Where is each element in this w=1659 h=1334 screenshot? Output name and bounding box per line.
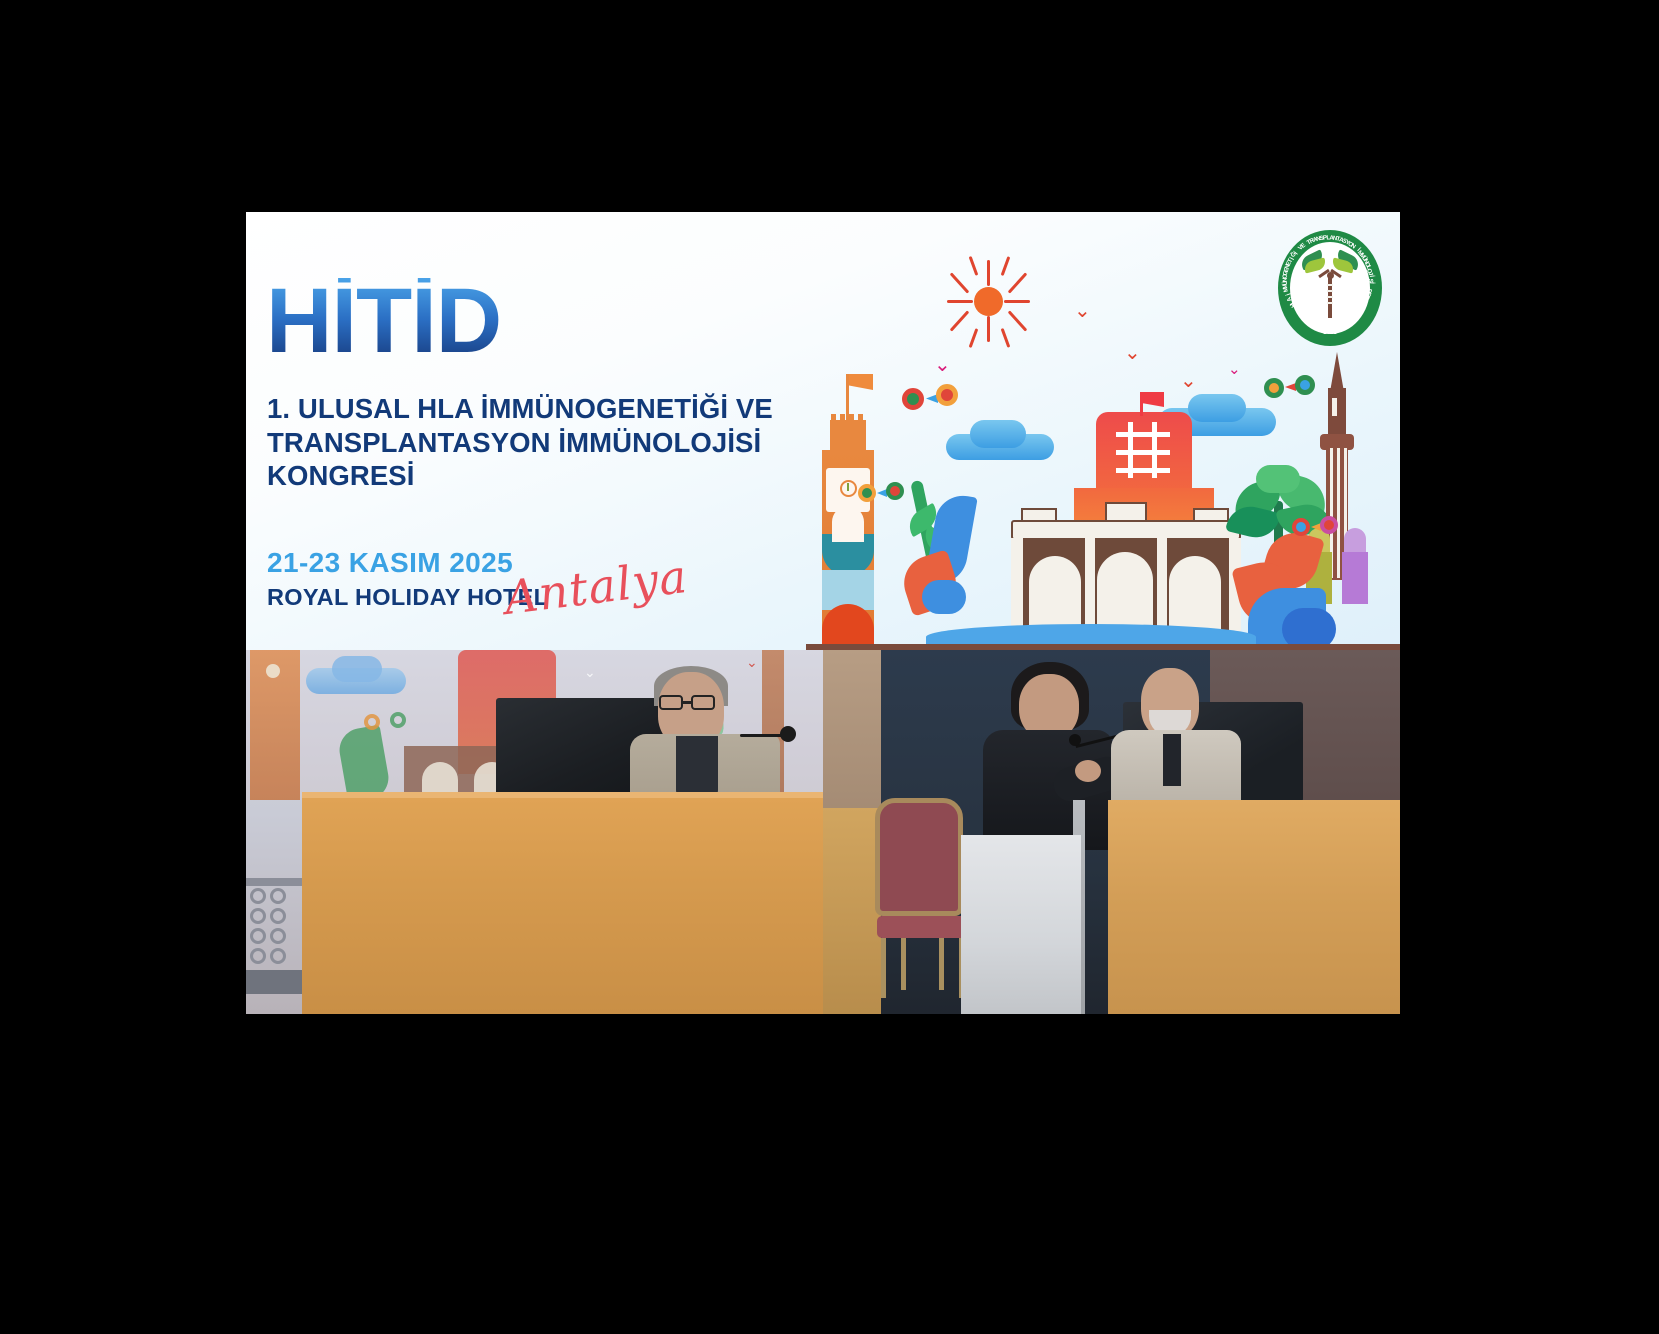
mural-bird-icon: ⌄ xyxy=(584,664,604,674)
mural-flower-icon xyxy=(390,712,406,728)
speaker-shirt xyxy=(676,736,718,798)
mural-bird-icon: ⌄ xyxy=(746,654,758,671)
sun-ray-icon xyxy=(987,260,990,286)
sun-ray-icon xyxy=(950,310,970,331)
sun-ray-icon xyxy=(1008,310,1028,331)
association-ring-glyph: İ xyxy=(1368,282,1375,284)
sun-ray-icon xyxy=(969,328,978,348)
sun-ray-icon xyxy=(1001,256,1010,276)
mural-clock-face-icon xyxy=(266,664,280,678)
bird-icon: ⌄ xyxy=(1180,370,1197,390)
sun-icon xyxy=(974,287,1003,316)
bird-icon: ⌄ xyxy=(934,354,951,374)
antalya-script-text: Antalya xyxy=(501,549,690,625)
leaf-icon xyxy=(1238,532,1334,650)
sun-ray-icon xyxy=(1008,272,1028,293)
secondary-lectern xyxy=(823,808,881,1014)
bird-icon: ⌄ xyxy=(1074,300,1091,320)
photo-right-session: Sevgi K.Beşişik S.Haldun Bal HİTİD 1. UL… xyxy=(823,650,1400,1014)
sun-ray-icon xyxy=(969,256,978,276)
chair-leg xyxy=(939,938,944,990)
sun-ray-icon xyxy=(1001,328,1010,348)
congress-dates: 21-23 KASIM 2025 xyxy=(267,547,513,579)
banquet-chair xyxy=(875,798,967,998)
association-ring-glyph: İ xyxy=(1368,275,1375,278)
congress-title-line-2: TRANSPLANTASYON İMMÜNOLOJİSİ xyxy=(267,426,847,460)
sun-ray-icon xyxy=(947,300,973,303)
panelist-man-tie xyxy=(1163,734,1181,786)
chair-leg xyxy=(901,938,906,990)
sun-ray-icon xyxy=(950,272,970,293)
screenshot-canvas: ⌄ ⌄ ⌄ ⌄ ⌄ ⌄ xyxy=(0,0,1659,1334)
glasses-icon xyxy=(659,695,717,710)
sun-ray-icon xyxy=(987,316,990,342)
cloud-icon xyxy=(970,420,1026,448)
panel-desk: Ali Şengül Barbaros Oral HİTİD 1. ULUSAL… xyxy=(302,798,823,1014)
congress-slide-composite: ⌄ ⌄ ⌄ ⌄ ⌄ ⌄ xyxy=(246,212,1400,1014)
association-logo: HLA İMMÜNOGENETİĞİ VE TRANSPLANTASYON İM… xyxy=(1274,218,1386,350)
auditorium-railing xyxy=(246,878,304,994)
association-founding-year: 2022 xyxy=(1274,330,1386,336)
panelist-woman-hand xyxy=(1075,760,1101,782)
chair-back xyxy=(875,798,963,916)
mural-flower-icon xyxy=(364,714,380,730)
white-lectern xyxy=(961,835,1081,1014)
association-ring-glyph xyxy=(1368,285,1375,287)
bird-icon: ⌄ xyxy=(1124,342,1141,362)
photo-left-session: ⌄ ⌄ xyxy=(246,650,823,1014)
congress-banner: ⌄ ⌄ ⌄ ⌄ ⌄ ⌄ xyxy=(246,212,1400,650)
congress-title: 1. ULUSAL HLA İMMÜNOGENETİĞİ VE TRANSPLA… xyxy=(267,392,847,493)
bird-icon: ⌄ xyxy=(1228,362,1241,377)
flag-icon xyxy=(1142,392,1164,407)
sun-ray-icon xyxy=(1004,300,1030,303)
congress-title-line-1: 1. ULUSAL HLA İMMÜNOGENETİĞİ VE xyxy=(267,392,847,426)
hitid-logotype: HİTİD xyxy=(266,278,501,364)
flag-icon xyxy=(849,374,873,390)
chair-seat xyxy=(877,916,969,938)
panel-desk-right: Sevgi K.Beşişik S.Haldun Bal HİTİD 1. UL… xyxy=(1108,800,1400,1014)
congress-title-line-3: KONGRESİ xyxy=(267,459,847,493)
chair-leg xyxy=(881,938,886,998)
microphone-icon xyxy=(740,730,796,740)
mural-cloud-icon xyxy=(332,656,382,682)
leaf-icon xyxy=(904,480,970,610)
